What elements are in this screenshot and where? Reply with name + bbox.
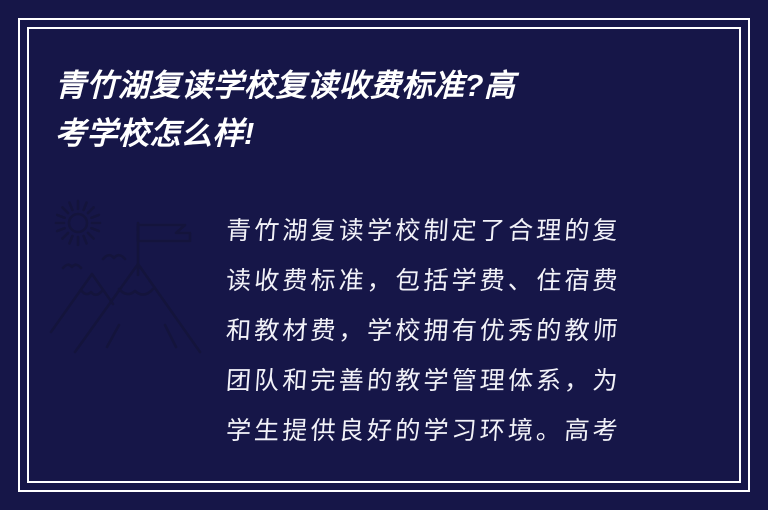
body-line-3: 和教材费，学校拥有优秀的教师	[224, 306, 651, 356]
mountains-with-flag-illustration	[45, 192, 217, 360]
bird-icon	[103, 255, 125, 259]
bird-icon	[63, 265, 81, 268]
body-line-4: 团队和完善的教学管理体系，为	[224, 356, 651, 406]
title-line-2: 考学校怎么样!	[55, 110, 695, 158]
poster-canvas: 青竹湖复读学校复读收费标准?高 考学校怎么样!	[0, 0, 768, 510]
sun-icon	[56, 201, 100, 245]
flag-icon	[138, 223, 190, 275]
body-line-5: 学生提供良好的学习环境。高考	[224, 406, 651, 456]
page-title: 青竹湖复读学校复读收费标准?高 考学校怎么样!	[55, 62, 695, 158]
body-line-1: 青竹湖复读学校制定了合理的复	[224, 206, 651, 256]
body-copy: 青竹湖复读学校制定了合理的复 读收费标准，包括学费、住宿费 和教材费，学校拥有优…	[226, 206, 650, 456]
title-line-1: 青竹湖复读学校复读收费标准?高	[55, 62, 695, 110]
body-line-2: 读收费标准，包括学费、住宿费	[224, 256, 651, 306]
mountain-peak-small-icon	[51, 274, 113, 332]
